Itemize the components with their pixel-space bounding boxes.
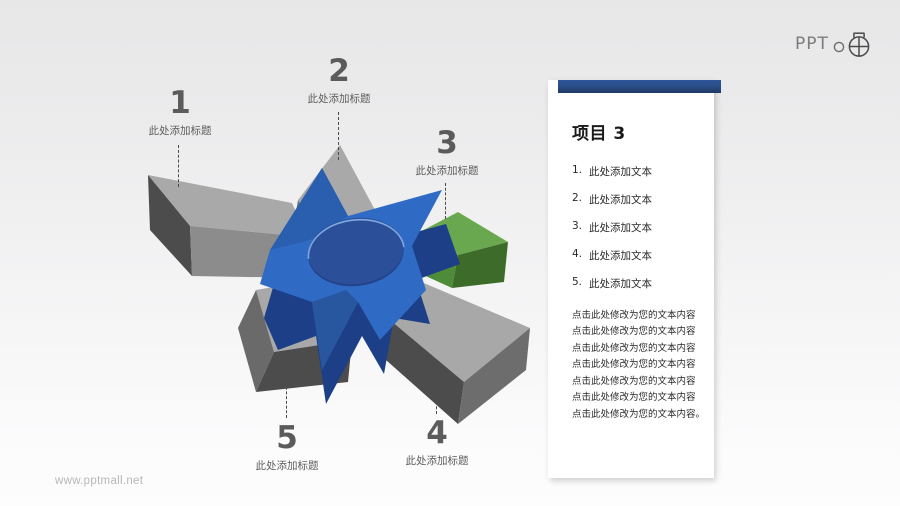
panel-accent-bar <box>558 80 721 93</box>
list-item-text: 此处添加文本 <box>589 220 652 235</box>
list-item-number: 1. <box>572 164 582 179</box>
callout-number-4: 4 <box>390 418 484 449</box>
list-item-number: 4. <box>572 248 582 263</box>
callout-caption-2: 此处添加标题 <box>292 91 386 106</box>
content-panel: 项目 3 1. 此处添加文本 2. 此处添加文本 3. 此处添加文本 4. 此处… <box>548 80 714 478</box>
panel-body-text[interactable]: 点击此处修改为您的文本内容 点击此处修改为您的文本内容 点击此处修改为您的文本内… <box>560 309 702 421</box>
leader-line-5 <box>286 382 287 418</box>
list-item-number: 5. <box>572 276 582 291</box>
body-line: 点击此处修改为您的文本内容。 <box>572 408 702 421</box>
callout-5[interactable]: 5 此处添加标题 <box>240 423 334 473</box>
list-item-text: 此处添加文本 <box>589 276 652 291</box>
list-item-number: 2. <box>572 192 582 207</box>
list-item[interactable]: 1. 此处添加文本 <box>572 164 702 179</box>
callout-caption-3: 此处添加标题 <box>400 163 494 178</box>
list-item-text: 此处添加文本 <box>589 192 652 207</box>
pptmall-circle-cross-icon <box>832 30 876 58</box>
body-line: 点击此处修改为您的文本内容 <box>572 391 702 404</box>
list-item-text: 此处添加文本 <box>589 164 652 179</box>
slide-canvas: PPT <box>0 0 900 506</box>
list-item[interactable]: 5. 此处添加文本 <box>572 276 702 291</box>
leader-line-2 <box>338 112 339 160</box>
callout-2[interactable]: 2 此处添加标题 <box>292 56 386 106</box>
body-line: 点击此处修改为您的文本内容 <box>572 375 702 388</box>
leader-line-4 <box>436 378 437 414</box>
panel-content: 项目 3 1. 此处添加文本 2. 此处添加文本 3. 此处添加文本 4. 此处… <box>548 93 714 478</box>
list-item[interactable]: 4. 此处添加文本 <box>572 248 702 263</box>
list-item[interactable]: 3. 此处添加文本 <box>572 220 702 235</box>
callout-caption-1: 此处添加标题 <box>133 123 227 138</box>
list-item-text: 此处添加文本 <box>589 248 652 263</box>
callout-number-3: 3 <box>400 128 494 159</box>
callout-number-5: 5 <box>240 423 334 454</box>
callout-number-1: 1 <box>133 88 227 119</box>
footer-watermark: www.pptmall.net <box>55 475 143 487</box>
callout-3[interactable]: 3 此处添加标题 <box>400 128 494 178</box>
leader-line-1 <box>178 145 179 187</box>
leader-line-3 <box>445 183 446 219</box>
panel-title: 项目 3 <box>560 119 702 144</box>
callout-caption-5: 此处添加标题 <box>240 458 334 473</box>
body-line: 点击此处修改为您的文本内容 <box>572 342 702 355</box>
pptmall-logo: PPT <box>795 30 876 58</box>
list-item-number: 3. <box>572 220 582 235</box>
panel-numbered-list: 1. 此处添加文本 2. 此处添加文本 3. 此处添加文本 4. 此处添加文本 … <box>560 164 702 291</box>
body-line: 点击此处修改为您的文本内容 <box>572 358 702 371</box>
callout-caption-4: 此处添加标题 <box>390 453 484 468</box>
body-line: 点击此处修改为您的文本内容 <box>572 309 702 322</box>
logo-text: PPT <box>795 36 829 53</box>
list-item[interactable]: 2. 此处添加文本 <box>572 192 702 207</box>
callout-4[interactable]: 4 此处添加标题 <box>390 418 484 468</box>
callout-1[interactable]: 1 此处添加标题 <box>133 88 227 138</box>
body-line: 点击此处修改为您的文本内容 <box>572 325 702 338</box>
callout-number-2: 2 <box>292 56 386 87</box>
